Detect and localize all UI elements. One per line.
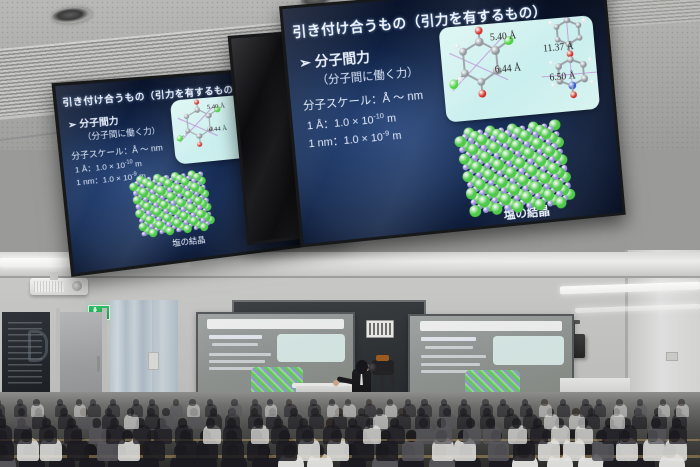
audience-member-body xyxy=(343,404,355,417)
audience-member-head xyxy=(678,399,684,406)
projection-left-conv1 xyxy=(209,360,265,363)
video-camera-accessory xyxy=(376,355,389,361)
display-cluster: 引き付け合うもの（引力を有するもの） ➢ 分子間力 （分子間に働く力） 分子スケ… xyxy=(42,0,642,268)
audience-member-body xyxy=(131,404,143,417)
audience-member-body xyxy=(458,404,470,417)
audience-member-head xyxy=(173,399,179,406)
presenter-hand xyxy=(333,380,339,386)
crystal-ion-sphere xyxy=(534,199,546,211)
atom-sphere xyxy=(196,133,202,139)
slide-right: 引き付け合うもの（引力を有するもの） ➢ 分子間力 （分子間に働く力） 分子スケ… xyxy=(282,0,622,244)
audience-member-head xyxy=(133,399,139,406)
atom-sphere xyxy=(195,107,201,113)
soffit-shadow-line xyxy=(0,276,700,278)
slide-right-dist-6-44: 6.44 Å xyxy=(494,63,521,76)
atom-sphere xyxy=(551,83,556,88)
audience-member-head xyxy=(310,399,316,406)
atom-sphere xyxy=(475,37,484,46)
crystal-ion-sphere xyxy=(511,133,517,140)
audience-member-head xyxy=(541,399,547,406)
atom-sphere xyxy=(448,79,458,89)
audience-member-head xyxy=(252,399,258,406)
projection-right-subline xyxy=(425,346,474,349)
audience-member-head xyxy=(17,399,23,406)
atom-sphere xyxy=(177,135,184,142)
audience-member-body xyxy=(539,404,551,417)
crystal-ion-sphere xyxy=(469,205,481,217)
audience-member-body xyxy=(74,404,86,417)
audience-member-head xyxy=(0,399,1,406)
conv-a-unit: m xyxy=(132,159,142,169)
audience-member-body xyxy=(439,404,451,417)
crystal-ion-sphere xyxy=(549,156,555,163)
audience-member-body xyxy=(520,404,532,417)
crystal-ion-sphere xyxy=(487,186,499,198)
audience-member-body xyxy=(229,404,241,417)
audience-member-head xyxy=(57,399,63,406)
projection-left-subline xyxy=(212,343,259,346)
slide-right-molecule-panel: 5.40 Å 6.44 Å 11.37 Å 6.50 Å xyxy=(438,15,600,122)
audience-member-head xyxy=(616,399,622,406)
audience-member-body xyxy=(205,404,217,417)
wall-control-plate[interactable] xyxy=(148,352,159,370)
wall-banner-logo-icon xyxy=(28,330,48,362)
audience-member-body xyxy=(658,404,670,417)
projector-mount xyxy=(50,272,58,280)
atom-sphere xyxy=(455,44,460,49)
audience-member-body xyxy=(557,404,569,417)
audience-member-head xyxy=(441,399,447,406)
lecture-hall-screenshot: 引き付け合うもの（引力を有するもの） ➢ 分子間力 （分子間に働く力） 分子スケ… xyxy=(0,0,700,467)
audience-member-body xyxy=(385,404,397,417)
audience-member-head xyxy=(366,399,372,406)
audience-member-head xyxy=(376,408,384,416)
audience-member-head xyxy=(162,408,170,416)
audience-member-body xyxy=(308,404,320,417)
atom-sphere xyxy=(570,91,577,98)
crystal-ion-sphere xyxy=(492,158,504,170)
audience-member-body xyxy=(265,404,277,417)
audience-member-head xyxy=(660,399,666,406)
audience-member-head xyxy=(149,399,155,406)
audience-member-head xyxy=(421,399,427,406)
audience-member-head xyxy=(572,408,580,416)
audience-member-head xyxy=(178,418,187,428)
audience-member-body xyxy=(250,404,262,417)
projection-right-title xyxy=(420,321,563,332)
audience-member-body xyxy=(0,404,5,417)
audience-member-head xyxy=(596,399,602,406)
audience-member-body xyxy=(480,404,492,417)
crystal-ion-sphere xyxy=(183,224,192,233)
atom-sphere xyxy=(564,17,571,24)
projection-left-title xyxy=(207,319,343,329)
projection-right-scale xyxy=(421,355,486,358)
atom-sphere xyxy=(548,21,553,26)
atom-sphere xyxy=(590,80,594,85)
atom-sphere xyxy=(579,60,587,68)
audience-member-body xyxy=(88,404,100,417)
atom-sphere xyxy=(575,21,582,28)
projection-right-bullet xyxy=(421,337,476,341)
crystal-ion-sphere xyxy=(491,203,503,215)
crystal-ion-sphere xyxy=(174,184,183,193)
crystal-ion-sphere xyxy=(496,176,508,188)
display-panel-right[interactable]: 引き付け合うもの（引力を有するもの） ➢ 分子間力 （分子間に働く力） 分子スケ… xyxy=(279,0,626,247)
projection-left-scale xyxy=(209,353,271,356)
door-handle-1[interactable] xyxy=(97,356,100,372)
crystal-ion-sphere xyxy=(177,198,186,207)
crystal-ion-sphere xyxy=(501,149,513,161)
projector-lens-icon xyxy=(72,281,82,291)
audience-member-head xyxy=(76,399,82,406)
slide-right-salt-crystal xyxy=(459,118,587,210)
audience-member-head xyxy=(405,399,411,406)
audience-member-body xyxy=(14,404,26,417)
crystal-ion-sphere xyxy=(156,186,165,195)
atom-sphere xyxy=(197,141,203,147)
crystal-ion-sphere xyxy=(148,228,157,238)
atom-sphere xyxy=(458,77,463,82)
crystal-ion-sphere xyxy=(530,181,542,193)
slide-left-dist-5-40: 5.40 Å xyxy=(207,102,226,111)
audience-member-body xyxy=(635,404,647,417)
audience-member-body xyxy=(419,404,431,417)
crystal-ion-sphere xyxy=(552,179,564,191)
audience-member-head xyxy=(522,399,528,406)
atom-sphere xyxy=(184,114,190,120)
audience-member-head xyxy=(110,399,116,406)
audience-member-head xyxy=(33,399,39,406)
audience-member-body xyxy=(147,404,159,417)
atom-sphere xyxy=(549,60,554,65)
audience-member-head xyxy=(482,399,488,406)
projection-left-molecule-panel xyxy=(277,334,345,362)
crystal-ion-sphere xyxy=(543,189,555,201)
slide-right-bullet-marker: ➢ xyxy=(298,54,311,71)
wall-outlet-plate xyxy=(666,352,678,361)
audience-member-body xyxy=(403,404,415,417)
audience-member-head xyxy=(345,399,351,406)
audience-member-head xyxy=(286,399,292,406)
atom-sphere xyxy=(581,74,589,82)
atom-sphere xyxy=(206,113,212,119)
audience-member-body xyxy=(187,404,199,417)
atom-sphere xyxy=(581,18,585,23)
projection-screen-right-housing xyxy=(410,314,572,316)
audience-member-body xyxy=(364,404,376,417)
projection-screen-left-housing xyxy=(198,312,353,314)
audience-member-body xyxy=(676,404,688,417)
projection-left-bullet xyxy=(209,335,262,339)
atom-sphere xyxy=(477,77,486,86)
atom-sphere xyxy=(566,56,574,64)
projection-right-molecule-panel xyxy=(493,336,564,365)
crystal-ion-sphere xyxy=(197,209,206,218)
audience-member-head xyxy=(582,399,588,406)
audience-member-head xyxy=(461,399,467,406)
crystal-ion-sphere xyxy=(548,162,560,174)
audience-member-body xyxy=(31,404,43,417)
conv-a-unit-r: m xyxy=(384,112,397,125)
crystal-ion-sphere xyxy=(539,172,551,184)
audience-member-head xyxy=(92,418,101,428)
audience-member-head xyxy=(207,399,213,406)
camera-lens-icon xyxy=(368,363,377,372)
atom-sphere xyxy=(576,34,583,41)
audience-member-body xyxy=(497,404,509,417)
atom-sphere xyxy=(555,62,563,70)
crystal-ion-sphere xyxy=(159,229,164,234)
audience-member-head xyxy=(267,399,273,406)
atom-sphere xyxy=(194,100,200,105)
audience-member-head xyxy=(189,399,195,406)
projection-right-conv1 xyxy=(421,363,479,366)
slide-left-dist-6-44: 6.44 Å xyxy=(209,125,228,134)
audience-member-head xyxy=(90,399,96,406)
crystal-ion-sphere xyxy=(502,143,508,150)
audience-member-body xyxy=(284,404,296,417)
audience-member-head xyxy=(387,399,393,406)
audience xyxy=(0,392,700,467)
slide-left-bullet-text: 分子間力 xyxy=(79,115,119,129)
crystal-ion-sphere xyxy=(497,170,503,177)
slide-left-bullet-marker: ➢ xyxy=(68,119,77,130)
projector-vents xyxy=(34,281,64,292)
crystal-ion-sphere xyxy=(200,222,209,231)
crystal-ion-sphere xyxy=(142,231,147,236)
audience-member-head xyxy=(329,399,335,406)
audience-member-body xyxy=(107,404,119,417)
audience-member-head xyxy=(560,399,566,406)
crystal-ion-sphere xyxy=(478,195,490,207)
wall-notice-sign xyxy=(366,320,394,338)
audience-member-body xyxy=(170,404,182,417)
crystal-ion-sphere xyxy=(142,201,152,210)
atom-sphere xyxy=(478,89,486,97)
crystal-ion-sphere xyxy=(454,135,466,147)
atom-sphere xyxy=(459,47,468,56)
audience-member-head xyxy=(637,399,643,406)
atom-sphere xyxy=(588,57,592,62)
crystal-ion-sphere xyxy=(193,225,198,230)
crystal-ion-sphere xyxy=(176,227,181,232)
atom-sphere xyxy=(491,46,500,55)
audience-member-head xyxy=(500,399,506,406)
presenter-head xyxy=(356,360,368,373)
slide-right-dist-5-40: 5.40 Å xyxy=(490,30,517,43)
conv-n-unit-r: m xyxy=(389,130,402,143)
audience-member-head xyxy=(231,399,237,406)
audience-member-body xyxy=(55,404,67,417)
slide-right-bullet-text: 分子間力 xyxy=(314,49,371,70)
slide-left-salt-crystal xyxy=(133,169,226,240)
atom-sphere xyxy=(474,26,482,34)
atom-sphere xyxy=(553,23,560,30)
crystal-ion-sphere xyxy=(504,205,510,212)
audience-member-body xyxy=(594,404,606,417)
audience-member-body xyxy=(614,404,626,417)
audience-member-body xyxy=(580,404,592,417)
audience-member-body xyxy=(327,404,339,417)
